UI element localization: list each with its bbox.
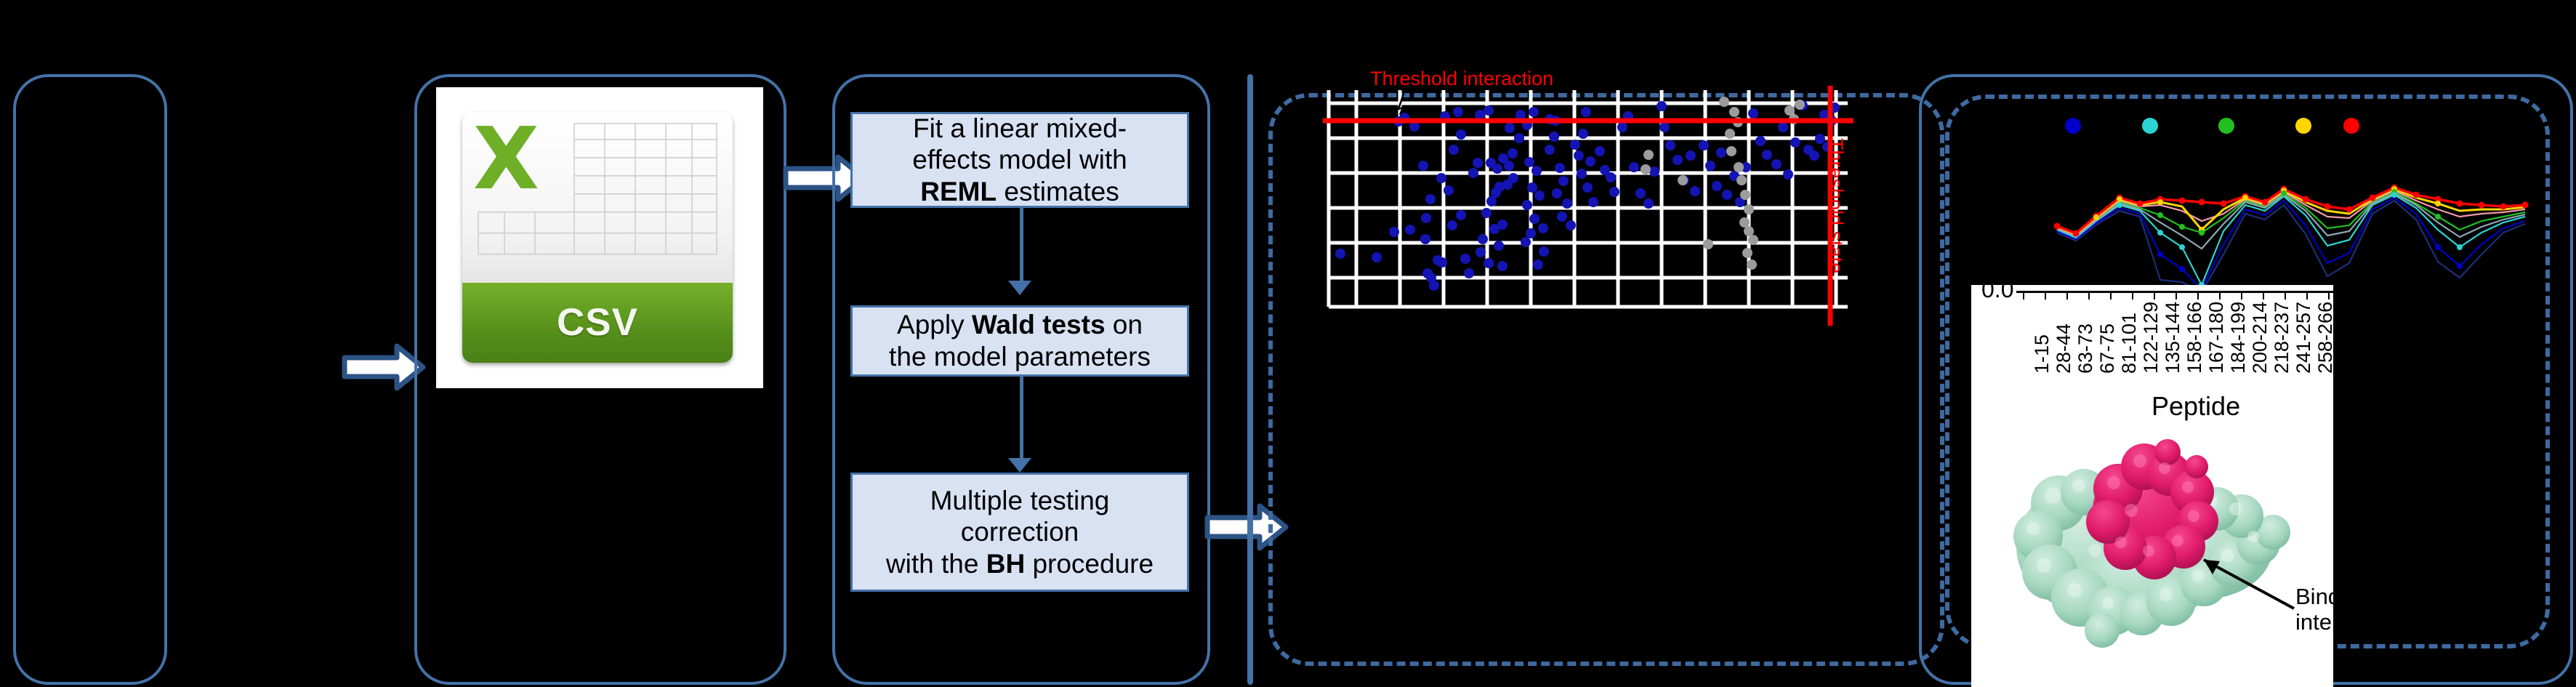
peptide-tick-5: 122-129 — [2140, 302, 2162, 374]
peptide-tick-11: 218-237 — [2271, 302, 2293, 374]
panel-results-scatter — [1247, 74, 1253, 685]
csv-icon-letter: X — [473, 116, 597, 201]
peptide-structure-card: 0.0 1-15 28-44 63-73 67-75 81-101 122-12… — [1971, 285, 2333, 687]
connector-arrowhead-1 — [1008, 281, 1031, 295]
peptide-axis-title: Peptide — [2152, 391, 2240, 422]
peptide-tick-10: 200-214 — [2249, 302, 2271, 374]
connector-wald-to-mt — [1020, 377, 1023, 458]
threshold-state-label: Threshold state — [1824, 138, 1847, 273]
peptide-axis-ticks — [2016, 291, 2333, 301]
scatter-plot-canvas — [1323, 86, 1853, 326]
connector-fit-to-wald — [1020, 208, 1023, 281]
binding-interface-annotation: Binding interface — [2295, 584, 2333, 635]
peptide-tick-0: 1-15 — [2031, 334, 2053, 374]
step-wald-tests-text: Apply Wald tests onthe model parameters — [889, 309, 1151, 372]
peptide-tick-4: 81-101 — [2118, 313, 2141, 374]
panel-input — [13, 74, 167, 685]
legend-dot-4 — [2295, 118, 2311, 134]
step-multiple-testing[interactable]: Multiple testingcorrectionwith the BH pr… — [850, 473, 1189, 592]
peptide-tick-8: 167-180 — [2205, 302, 2228, 374]
peptide-y-tick-label: 0.0 — [1981, 285, 2013, 303]
csv-icon-sheet: X — [462, 112, 733, 283]
peptide-tick-13: 258-266 — [2314, 302, 2333, 374]
csv-icon-format-label: CSV — [557, 300, 638, 345]
step-multiple-testing-text: Multiple testingcorrectionwith the BH pr… — [886, 485, 1154, 580]
step-fit-model-text: Fit a linear mixed-effects model withREM… — [912, 113, 1127, 208]
peptide-tick-3: 67-75 — [2096, 324, 2119, 374]
csv-icon-format-band: CSV — [462, 283, 733, 363]
connector-arrowhead-2 — [1008, 458, 1031, 473]
peptide-line-chart — [2053, 138, 2532, 294]
peptide-tick-7: 158-166 — [2183, 302, 2206, 374]
legend-dot-2 — [2142, 118, 2158, 134]
legend-dot-3 — [2218, 118, 2234, 134]
legend-dot-5 — [2343, 118, 2359, 134]
peptide-tick-12: 241-257 — [2293, 302, 2315, 374]
step-fit-model[interactable]: Fit a linear mixed-effects model withREM… — [850, 112, 1189, 208]
step-wald-tests[interactable]: Apply Wald tests onthe model parameters — [850, 305, 1189, 377]
peptide-tick-6: 135-144 — [2162, 302, 2184, 374]
peptide-tick-2: 63-73 — [2074, 324, 2097, 374]
peptide-tick-1: 28-44 — [2053, 324, 2075, 374]
workflow-diagram: X CSV Fit a linear mixed-effects model w… — [0, 0, 2576, 687]
peptide-tick-9: 184-199 — [2227, 302, 2250, 374]
legend-dot-1 — [2065, 118, 2081, 134]
csv-icon-background: X CSV — [436, 87, 763, 388]
csv-file-icon: X CSV — [462, 112, 733, 363]
protein-structure-image — [1986, 423, 2333, 656]
